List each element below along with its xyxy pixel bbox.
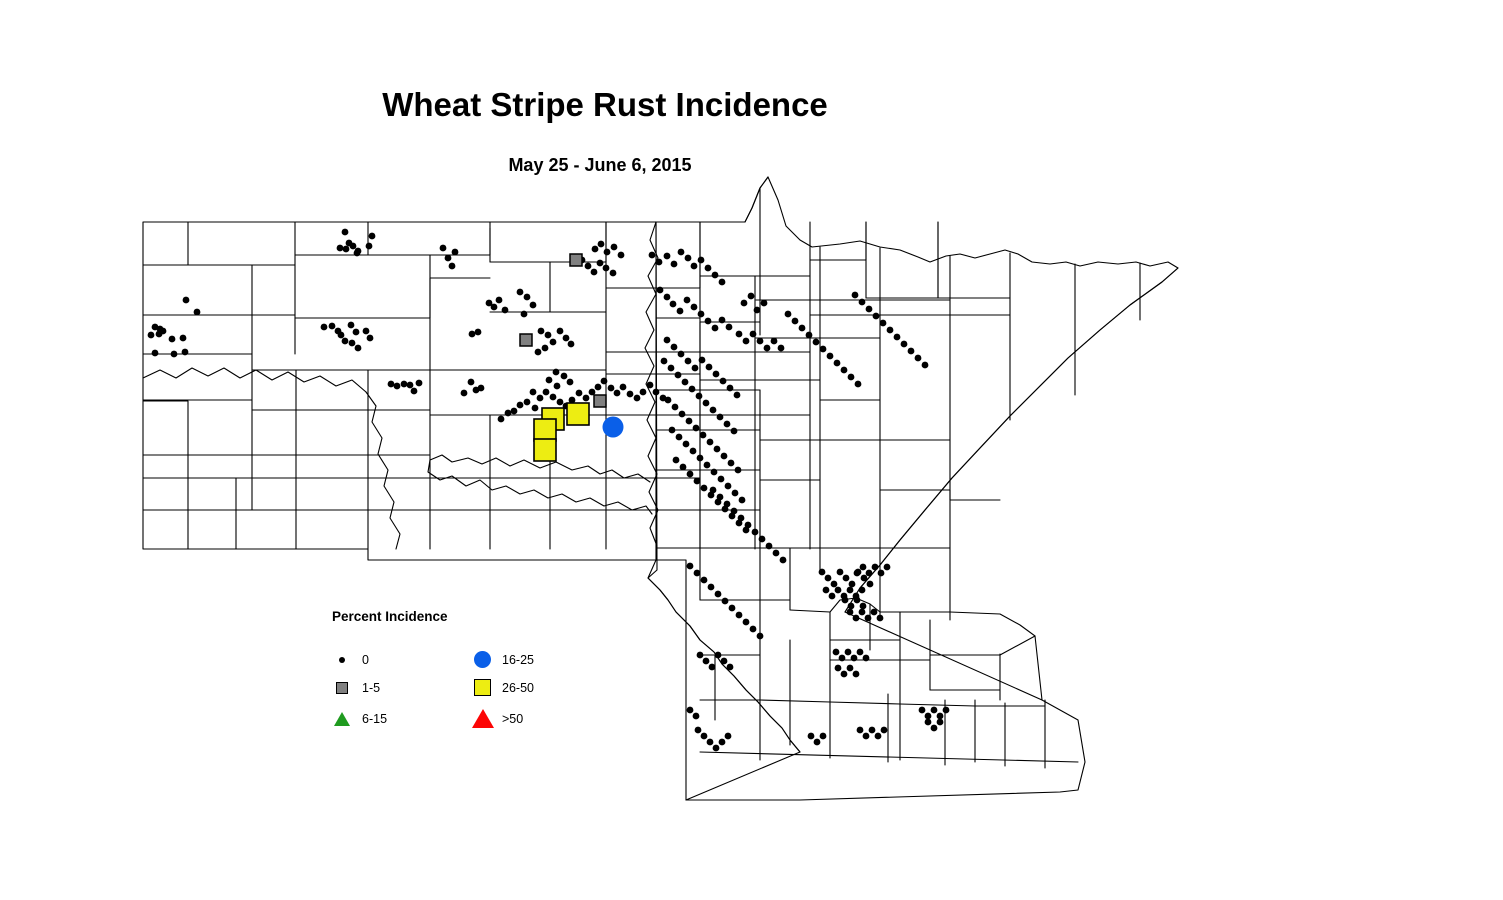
marker-dot-zero bbox=[849, 581, 856, 588]
marker-square-1-5 bbox=[570, 254, 582, 266]
marker-dot-zero bbox=[722, 598, 729, 605]
legend: Percent Incidence 0 1-5 6-15 16-25 26-50… bbox=[330, 609, 560, 739]
marker-dot-zero bbox=[710, 407, 717, 414]
marker-dot-zero bbox=[678, 351, 685, 358]
marker-dot-zero bbox=[719, 279, 726, 286]
marker-dot-zero bbox=[469, 331, 476, 338]
marker-dot-zero bbox=[729, 605, 736, 612]
marker-square-1-5 bbox=[594, 395, 606, 407]
map-page: Wheat Stripe Rust Incidence May 25 - Jun… bbox=[0, 0, 1503, 900]
marker-dot-zero bbox=[855, 381, 862, 388]
marker-dot-zero bbox=[872, 564, 879, 571]
marker-dot-zero bbox=[901, 341, 908, 348]
marker-dot-zero bbox=[521, 311, 528, 318]
legend-title: Percent Incidence bbox=[332, 609, 448, 624]
marker-dot-zero bbox=[848, 374, 855, 381]
marker-dot-zero bbox=[614, 390, 621, 397]
marker-dot-zero bbox=[690, 448, 697, 455]
marker-dot-zero bbox=[699, 357, 706, 364]
marker-dot-zero bbox=[731, 508, 738, 515]
marker-dot-zero bbox=[691, 263, 698, 270]
marker-dot-zero bbox=[745, 522, 752, 529]
marker-dot-zero bbox=[686, 418, 693, 425]
marker-dot-zero bbox=[530, 302, 537, 309]
marker-dot-zero bbox=[684, 297, 691, 304]
marker-dot-zero bbox=[831, 581, 838, 588]
marker-dot-zero bbox=[664, 337, 671, 344]
marker-dot-zero bbox=[819, 569, 826, 576]
marker-dot-zero bbox=[367, 335, 374, 342]
marker-dot-zero bbox=[754, 307, 761, 314]
marker-dot-zero bbox=[401, 381, 408, 388]
marker-dot-zero bbox=[847, 609, 854, 616]
marker-dot-zero bbox=[931, 725, 938, 732]
marker-dot-zero bbox=[727, 385, 734, 392]
marker-dot-zero bbox=[854, 597, 861, 604]
marker-dot-zero bbox=[859, 299, 866, 306]
marker-dot-zero bbox=[669, 427, 676, 434]
marker-square-1-5 bbox=[520, 334, 532, 346]
marker-dot-zero bbox=[475, 329, 482, 336]
marker-dot-zero bbox=[557, 328, 564, 335]
marker-dot-zero bbox=[169, 336, 176, 343]
marker-dot-zero bbox=[692, 365, 699, 372]
legend-label-26-50: 26-50 bbox=[502, 681, 534, 695]
marker-dot-zero bbox=[752, 529, 759, 536]
marker-dot-zero bbox=[724, 421, 731, 428]
marker-dot-zero bbox=[694, 570, 701, 577]
marker-dot-zero bbox=[595, 384, 602, 391]
marker-dot-zero bbox=[620, 384, 627, 391]
marker-dot-zero bbox=[502, 307, 509, 314]
marker-dot-zero bbox=[156, 331, 163, 338]
marker-dot-zero bbox=[517, 289, 524, 296]
marker-square-26-50 bbox=[567, 403, 589, 425]
marker-dot-zero bbox=[780, 557, 787, 564]
marker-square-26-50 bbox=[534, 439, 556, 461]
marker-dot-zero bbox=[647, 382, 654, 389]
marker-dot-zero bbox=[859, 587, 866, 594]
marker-dot-zero bbox=[766, 543, 773, 550]
marker-dot-zero bbox=[715, 652, 722, 659]
marker-dot-zero bbox=[683, 441, 690, 448]
marker-dot-zero bbox=[710, 487, 717, 494]
marker-dot-zero bbox=[871, 609, 878, 616]
marker-dot-zero bbox=[687, 707, 694, 714]
marker-dot-zero bbox=[550, 394, 557, 401]
marker-dot-zero bbox=[771, 338, 778, 345]
marker-dot-zero bbox=[411, 388, 418, 395]
small-black-dot-icon bbox=[330, 647, 356, 673]
marker-dot-zero bbox=[761, 300, 768, 307]
marker-dot-zero bbox=[568, 341, 575, 348]
marker-dot-zero bbox=[732, 490, 739, 497]
marker-dot-zero bbox=[712, 325, 719, 332]
marker-dot-zero bbox=[726, 324, 733, 331]
marker-dot-zero bbox=[610, 270, 617, 277]
marker-dot-zero bbox=[649, 252, 656, 259]
marker-dot-zero bbox=[677, 308, 684, 315]
marker-dot-zero bbox=[445, 255, 452, 262]
marker-dot-zero bbox=[348, 322, 355, 329]
marker-dot-zero bbox=[664, 253, 671, 260]
marker-dot-zero bbox=[877, 615, 884, 622]
marker-dot-zero bbox=[718, 476, 725, 483]
marker-dot-zero bbox=[537, 395, 544, 402]
marker-dot-zero bbox=[705, 318, 712, 325]
marker-dot-zero bbox=[757, 338, 764, 345]
marker-dot-zero bbox=[604, 249, 611, 256]
marker-dot-zero bbox=[343, 246, 350, 253]
marker-dot-zero bbox=[329, 323, 336, 330]
marker-dot-zero bbox=[591, 269, 598, 276]
marker-dot-zero bbox=[698, 257, 705, 264]
marker-dot-zero bbox=[887, 327, 894, 334]
marker-dot-zero bbox=[719, 739, 726, 746]
marker-dot-zero bbox=[820, 346, 827, 353]
legend-label-over-50: >50 bbox=[502, 712, 523, 726]
marker-dot-zero bbox=[563, 335, 570, 342]
marker-dot-zero bbox=[853, 671, 860, 678]
marker-dot-zero bbox=[369, 233, 376, 240]
green-triangle-icon bbox=[330, 706, 356, 732]
marker-dot-zero bbox=[532, 405, 539, 412]
marker-dot-zero bbox=[712, 272, 719, 279]
legend-label-6-15: 6-15 bbox=[362, 712, 387, 726]
marker-dot-zero bbox=[725, 483, 732, 490]
marker-dot-zero bbox=[576, 390, 583, 397]
marker-dot-zero bbox=[653, 389, 660, 396]
marker-dot-zero bbox=[717, 494, 724, 501]
marker-circle-16-25 bbox=[603, 417, 624, 438]
marker-dot-zero bbox=[583, 395, 590, 402]
marker-dot-zero bbox=[711, 469, 718, 476]
marker-dot-zero bbox=[478, 385, 485, 392]
marker-dot-zero bbox=[440, 245, 447, 252]
marker-dot-zero bbox=[925, 713, 932, 720]
marker-dot-zero bbox=[524, 399, 531, 406]
marker-dot-zero bbox=[806, 332, 813, 339]
marker-dot-zero bbox=[738, 515, 745, 522]
marker-dot-zero bbox=[553, 369, 560, 376]
marker-dot-zero bbox=[727, 664, 734, 671]
marker-dot-zero bbox=[719, 317, 726, 324]
marker-dot-zero bbox=[937, 713, 944, 720]
marker-dot-zero bbox=[757, 633, 764, 640]
marker-dot-zero bbox=[852, 292, 859, 299]
red-triangle-icon bbox=[470, 706, 496, 732]
yellow-square-icon bbox=[470, 675, 496, 701]
marker-dot-zero bbox=[685, 358, 692, 365]
marker-dot-zero bbox=[728, 460, 735, 467]
marker-dot-zero bbox=[759, 536, 766, 543]
marker-dot-zero bbox=[542, 345, 549, 352]
marker-dot-zero bbox=[857, 649, 864, 656]
marker-dot-zero bbox=[873, 313, 880, 320]
marker-dot-zero bbox=[661, 358, 668, 365]
marker-dot-zero bbox=[708, 584, 715, 591]
marker-dot-zero bbox=[407, 382, 414, 389]
marker-dot-zero bbox=[678, 249, 685, 256]
marker-dot-zero bbox=[695, 727, 702, 734]
marker-dot-zero bbox=[706, 364, 713, 371]
marker-dot-zero bbox=[355, 345, 362, 352]
marker-dot-zero bbox=[839, 655, 846, 662]
marker-dot-zero bbox=[878, 570, 885, 577]
marker-dot-zero bbox=[342, 338, 349, 345]
marker-dot-zero bbox=[847, 665, 854, 672]
marker-dot-zero bbox=[349, 340, 356, 347]
marker-dot-zero bbox=[863, 733, 870, 740]
marker-dot-zero bbox=[592, 246, 599, 253]
marker-dot-zero bbox=[171, 351, 178, 358]
marker-dot-zero bbox=[694, 478, 701, 485]
marker-dot-zero bbox=[721, 453, 728, 460]
marker-dot-zero bbox=[664, 294, 671, 301]
marker-dot-zero bbox=[709, 664, 716, 671]
marker-dot-zero bbox=[665, 397, 672, 404]
marker-dot-zero bbox=[734, 392, 741, 399]
marker-dot-zero bbox=[867, 581, 874, 588]
marker-dot-zero bbox=[697, 652, 704, 659]
marker-dot-zero bbox=[603, 265, 610, 272]
marker-dot-zero bbox=[703, 400, 710, 407]
marker-dot-zero bbox=[860, 603, 867, 610]
marker-dot-zero bbox=[601, 378, 608, 385]
marker-dot-zero bbox=[194, 309, 201, 316]
marker-dot-zero bbox=[701, 733, 708, 740]
marker-dot-zero bbox=[835, 587, 842, 594]
marker-dot-zero bbox=[152, 350, 159, 357]
marker-dot-zero bbox=[773, 550, 780, 557]
marker-dot-zero bbox=[823, 587, 830, 594]
marker-dot-zero bbox=[853, 615, 860, 622]
marker-dot-zero bbox=[847, 587, 854, 594]
marker-dot-zero bbox=[943, 707, 950, 714]
marker-dot-zero bbox=[585, 263, 592, 270]
marker-dot-zero bbox=[656, 259, 663, 266]
marker-dot-zero bbox=[820, 733, 827, 740]
marker-dot-zero bbox=[908, 348, 915, 355]
marker-dot-zero bbox=[538, 328, 545, 335]
marker-dot-zero bbox=[937, 719, 944, 726]
marker-dot-zero bbox=[880, 320, 887, 327]
marker-dot-zero bbox=[922, 362, 929, 369]
gray-square-icon bbox=[330, 675, 356, 701]
marker-dot-zero bbox=[148, 332, 155, 339]
marker-dot-zero bbox=[354, 250, 361, 257]
marker-dot-zero bbox=[363, 328, 370, 335]
marker-dot-zero bbox=[857, 727, 864, 734]
marker-dot-zero bbox=[778, 345, 785, 352]
marker-dot-zero bbox=[743, 338, 750, 345]
marker-dot-zero bbox=[704, 462, 711, 469]
marker-dot-zero bbox=[449, 263, 456, 270]
marker-dot-zero bbox=[808, 733, 815, 740]
marker-dot-zero bbox=[851, 655, 858, 662]
marker-dot-zero bbox=[884, 564, 891, 571]
marker-dot-zero bbox=[814, 739, 821, 746]
marker-dot-zero bbox=[687, 471, 694, 478]
marker-dot-zero bbox=[799, 325, 806, 332]
marker-dot-zero bbox=[866, 570, 873, 577]
marker-dot-zero bbox=[736, 612, 743, 619]
marker-dot-zero bbox=[698, 311, 705, 318]
marker-dot-zero bbox=[676, 434, 683, 441]
marker-dot-zero bbox=[342, 229, 349, 236]
marker-dot-zero bbox=[925, 719, 932, 726]
marker-dot-zero bbox=[687, 563, 694, 570]
marker-dot-zero bbox=[720, 378, 727, 385]
marker-dot-zero bbox=[557, 399, 564, 406]
county-boundaries bbox=[143, 177, 1178, 800]
marker-dot-zero bbox=[452, 249, 459, 256]
marker-dot-zero bbox=[707, 439, 714, 446]
marker-dot-zero bbox=[835, 665, 842, 672]
marker-dot-zero bbox=[881, 727, 888, 734]
marker-dot-zero bbox=[735, 467, 742, 474]
marker-dot-zero bbox=[731, 428, 738, 435]
marker-dot-zero bbox=[863, 655, 870, 662]
marker-dot-zero bbox=[842, 597, 849, 604]
legend-label-1-5: 1-5 bbox=[362, 681, 380, 695]
marker-dot-zero bbox=[841, 671, 848, 678]
marker-dot-zero bbox=[543, 389, 550, 396]
marker-dot-zero bbox=[750, 331, 757, 338]
marker-dot-zero bbox=[689, 386, 696, 393]
marker-dot-zero bbox=[496, 297, 503, 304]
marker-dot-zero bbox=[505, 410, 512, 417]
marker-dot-zero bbox=[825, 575, 832, 582]
marker-dot-zero bbox=[866, 306, 873, 313]
marker-dot-zero bbox=[841, 367, 848, 374]
marker-dot-zero bbox=[388, 381, 395, 388]
marker-dot-zero bbox=[511, 408, 518, 415]
marker-dot-zero bbox=[875, 733, 882, 740]
marker-dot-zero bbox=[685, 255, 692, 262]
marker-dot-zero bbox=[627, 391, 634, 398]
state-county-map bbox=[0, 0, 1503, 900]
blue-circle-icon bbox=[470, 647, 496, 673]
marker-dot-zero bbox=[715, 591, 722, 598]
marker-dot-zero bbox=[854, 570, 861, 577]
marker-dot-zero bbox=[829, 593, 836, 600]
marker-square-26-50 bbox=[534, 419, 556, 441]
marker-dot-zero bbox=[182, 349, 189, 356]
marker-dot-zero bbox=[517, 402, 524, 409]
marker-dot-zero bbox=[717, 414, 724, 421]
marker-dot-zero bbox=[618, 252, 625, 259]
marker-dot-zero bbox=[491, 304, 498, 311]
marker-dot-zero bbox=[701, 577, 708, 584]
marker-dot-zero bbox=[861, 575, 868, 582]
marker-dot-zero bbox=[724, 501, 731, 508]
marker-dot-zero bbox=[713, 745, 720, 752]
marker-dot-zero bbox=[394, 383, 401, 390]
marker-dot-zero bbox=[657, 287, 664, 294]
marker-dot-zero bbox=[671, 261, 678, 268]
marker-dot-zero bbox=[691, 304, 698, 311]
marker-dot-zero bbox=[845, 649, 852, 656]
marker-dot-zero bbox=[180, 335, 187, 342]
marker-dot-zero bbox=[679, 411, 686, 418]
map-canvas bbox=[0, 0, 1503, 900]
marker-dot-zero bbox=[741, 300, 748, 307]
marker-dot-zero bbox=[703, 658, 710, 665]
marker-dot-zero bbox=[350, 243, 357, 250]
marker-dot-zero bbox=[670, 301, 677, 308]
marker-dot-zero bbox=[721, 658, 728, 665]
marker-dot-zero bbox=[671, 344, 678, 351]
marker-dot-zero bbox=[764, 345, 771, 352]
marker-dot-zero bbox=[546, 377, 553, 384]
marker-dot-zero bbox=[524, 294, 531, 301]
marker-dot-zero bbox=[461, 390, 468, 397]
marker-dot-zero bbox=[567, 379, 574, 386]
marker-dot-zero bbox=[931, 707, 938, 714]
marker-dot-zero bbox=[714, 446, 721, 453]
marker-dot-zero bbox=[550, 339, 557, 346]
marker-dot-zero bbox=[750, 626, 757, 633]
marker-dot-zero bbox=[843, 575, 850, 582]
marker-dot-zero bbox=[554, 383, 561, 390]
marker-dot-zero bbox=[833, 649, 840, 656]
marker-dot-zero bbox=[697, 455, 704, 462]
marker-dot-zero bbox=[682, 379, 689, 386]
marker-dot-zero bbox=[634, 395, 641, 402]
marker-dot-zero bbox=[725, 733, 732, 740]
marker-dot-zero bbox=[785, 311, 792, 318]
marker-dot-zero bbox=[338, 332, 345, 339]
marker-dot-zero bbox=[675, 372, 682, 379]
marker-dot-zero bbox=[743, 619, 750, 626]
marker-dot-zero bbox=[598, 241, 605, 248]
marker-dot-zero bbox=[611, 244, 618, 251]
marker-dot-zero bbox=[700, 432, 707, 439]
marker-dot-zero bbox=[640, 389, 647, 396]
marker-dot-zero bbox=[561, 373, 568, 380]
marker-dot-zero bbox=[321, 324, 328, 331]
marker-dot-zero bbox=[530, 389, 537, 396]
marker-dot-zero bbox=[894, 334, 901, 341]
marker-dot-zero bbox=[713, 371, 720, 378]
marker-dot-zero bbox=[736, 331, 743, 338]
marker-dot-zero bbox=[748, 293, 755, 300]
marker-dot-zero bbox=[860, 564, 867, 571]
marker-dot-zero bbox=[693, 713, 700, 720]
marker-dot-zero bbox=[353, 329, 360, 336]
marker-dot-zero bbox=[183, 297, 190, 304]
marker-dot-zero bbox=[859, 609, 866, 616]
legend-label-16-25: 16-25 bbox=[502, 653, 534, 667]
marker-dot-zero bbox=[468, 379, 475, 386]
marker-dot-zero bbox=[813, 339, 820, 346]
legend-label-0: 0 bbox=[362, 653, 369, 667]
marker-dot-zero bbox=[848, 603, 855, 610]
marker-dot-zero bbox=[865, 615, 872, 622]
marker-dot-zero bbox=[837, 569, 844, 576]
marker-dot-zero bbox=[672, 404, 679, 411]
marker-dot-zero bbox=[827, 353, 834, 360]
marker-dot-zero bbox=[673, 457, 680, 464]
marker-dot-zero bbox=[535, 349, 542, 356]
marker-dot-zero bbox=[597, 260, 604, 267]
marker-dot-zero bbox=[701, 485, 708, 492]
marker-dot-zero bbox=[869, 727, 876, 734]
marker-dot-zero bbox=[545, 332, 552, 339]
marker-dot-zero bbox=[834, 360, 841, 367]
marker-dot-zero bbox=[498, 416, 505, 423]
